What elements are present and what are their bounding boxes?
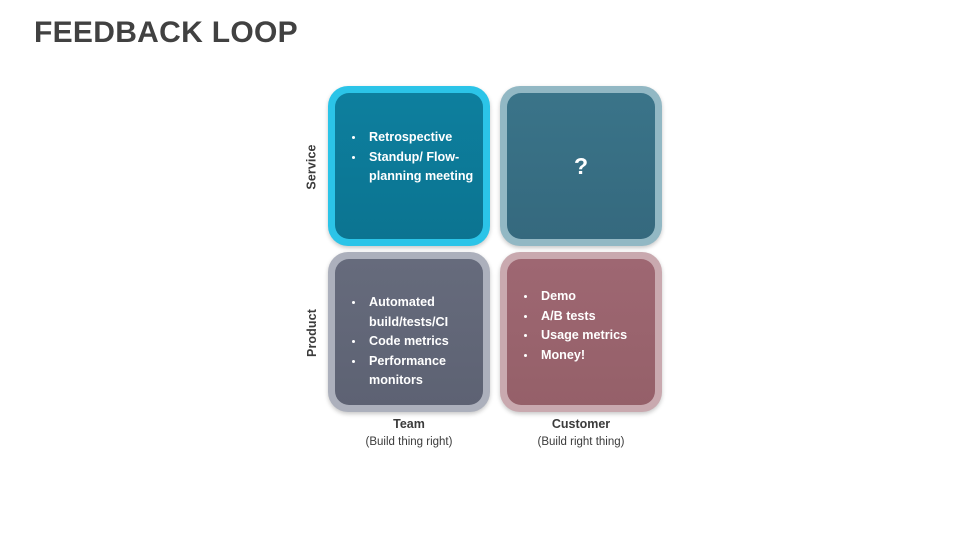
row-label-product-text: Product xyxy=(305,309,319,357)
column-label-team-sublabel: (Build thing right) xyxy=(328,434,490,451)
column-label-team: Team (Build thing right) xyxy=(328,416,490,451)
list-item: Performance monitors xyxy=(345,352,475,391)
column-label-customer-sublabel: (Build right thing) xyxy=(500,434,662,451)
column-label-customer: Customer (Build right thing) xyxy=(500,416,662,451)
list-item: Standup/ Flow-planning meeting xyxy=(345,148,475,187)
row-label-service: Service xyxy=(300,86,324,248)
quadrant-service-team-body: Retrospective Standup/ Flow-planning mee… xyxy=(335,93,483,239)
list-item: Automated build/tests/CI xyxy=(345,293,475,332)
row-label-service-text: Service xyxy=(305,144,319,189)
bullet-list-service-team: Retrospective Standup/ Flow-planning mee… xyxy=(345,128,475,187)
quadrant-product-team-body: Automated build/tests/CI Code metrics Pe… xyxy=(335,259,483,405)
column-label-team-title: Team xyxy=(328,416,490,433)
list-item: A/B tests xyxy=(517,307,647,327)
column-label-customer-title: Customer xyxy=(500,416,662,433)
bullet-list-product-customer: Demo A/B tests Usage metrics Money! xyxy=(517,287,647,365)
list-item: Code metrics xyxy=(345,332,475,352)
row-label-product: Product xyxy=(300,252,324,414)
feedback-loop-matrix: Service Product Retrospective Standup/ F… xyxy=(300,86,676,458)
quadrant-service-team[interactable]: Retrospective Standup/ Flow-planning mee… xyxy=(328,86,490,246)
list-item: Money! xyxy=(517,346,647,366)
question-mark-placeholder: ? xyxy=(507,93,655,239)
quadrant-service-customer-body: ? xyxy=(507,93,655,239)
quadrant-product-customer-body: Demo A/B tests Usage metrics Money! xyxy=(507,259,655,405)
quadrant-service-customer[interactable]: ? xyxy=(500,86,662,246)
list-item: Demo xyxy=(517,287,647,307)
page-title: FEEDBACK LOOP xyxy=(34,16,298,50)
quadrant-product-customer[interactable]: Demo A/B tests Usage metrics Money! xyxy=(500,252,662,412)
list-item: Retrospective xyxy=(345,128,475,148)
list-item: Usage metrics xyxy=(517,326,647,346)
quadrant-product-team[interactable]: Automated build/tests/CI Code metrics Pe… xyxy=(328,252,490,412)
bullet-list-product-team: Automated build/tests/CI Code metrics Pe… xyxy=(345,293,475,391)
